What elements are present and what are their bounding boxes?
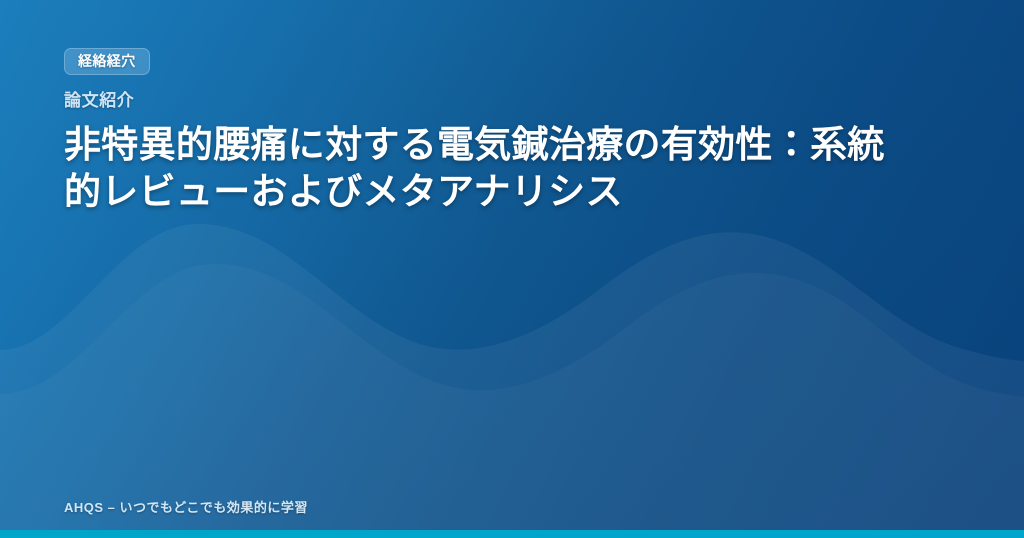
slide-footer-branding: AHQS – いつでもどこでも効果的に学習 (64, 497, 308, 516)
slide-eyebrow: 論文紹介 (64, 92, 960, 111)
category-badge: 経絡経穴 (64, 48, 150, 75)
presentation-slide: 経絡経穴 論文紹介 非特異的腰痛に対する電気鍼治療の有効性：系統 的レビューおよ… (0, 0, 1024, 538)
page-title: 非特異的腰痛に対する電気鍼治療の有効性：系統 的レビューおよびメタアナリシス (64, 121, 960, 216)
wave-decoration (0, 198, 1024, 538)
page-title-line-1: 非特異的腰痛に対する電気鍼治療の有効性：系統 (64, 121, 960, 168)
bottom-accent-bar (0, 530, 1024, 538)
page-title-line-2: 的レビューおよびメタアナリシス (64, 168, 960, 215)
wave-shape-front (0, 224, 1024, 538)
slide-content: 経絡経穴 論文紹介 非特異的腰痛に対する電気鍼治療の有効性：系統 的レビューおよ… (64, 48, 960, 240)
